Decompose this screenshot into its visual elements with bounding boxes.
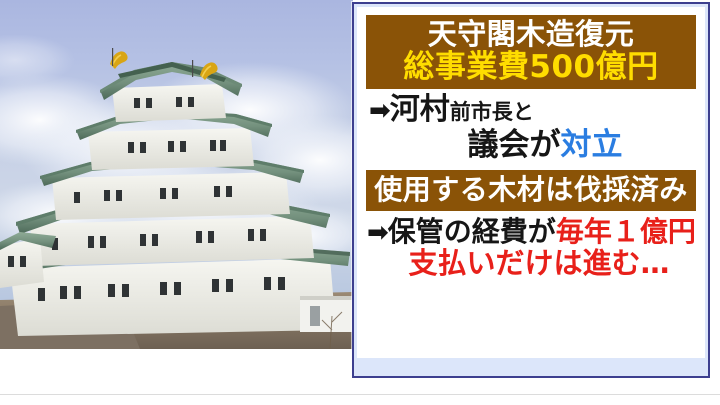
page-bottom-rule bbox=[0, 394, 720, 395]
castle-photo-artwork bbox=[0, 0, 353, 349]
point1-line1-main: 河村 bbox=[390, 92, 450, 127]
point-1: ➡河村前市長と 議会が対立 bbox=[357, 95, 705, 161]
point2-line1-main: 保管の経費が bbox=[388, 215, 556, 248]
banner-headline-1: 天守閣木造復元 総事業費500億円 bbox=[366, 15, 696, 89]
arrow-right-icon: ➡ bbox=[369, 96, 390, 126]
banner2-line1: 使用する木材は伐採済み bbox=[374, 175, 688, 204]
info-panel-inner: 天守閣木造復元 総事業費500億円 ➡河村前市長と 議会が対立 使用する木材は伐… bbox=[357, 7, 705, 358]
point2-line1: ➡保管の経費が毎年１億円 bbox=[365, 218, 697, 247]
point2-line2: 支払いだけは進む… bbox=[365, 249, 697, 279]
point1-line2-main: 議会が bbox=[468, 127, 561, 163]
point1-line2: 議会が対立 bbox=[365, 130, 697, 162]
point1-line1: ➡河村前市長と bbox=[365, 95, 697, 126]
point1-line1-small: 前市長と bbox=[450, 100, 534, 124]
point-2: ➡保管の経費が毎年１億円 支払いだけは進む… bbox=[357, 218, 705, 279]
info-panel: 天守閣木造復元 総事業費500億円 ➡河村前市長と 議会が対立 使用する木材は伐… bbox=[352, 2, 710, 378]
point2-line1-accent: 毎年１億円 bbox=[556, 215, 696, 248]
banner1-line2-cost: 総事業費500億円 bbox=[403, 51, 658, 84]
screenshot-stage: 天守閣木造復元 総事業費500億円 ➡河村前市長と 議会が対立 使用する木材は伐… bbox=[0, 0, 720, 405]
point1-line2-accent: 対立 bbox=[561, 127, 623, 163]
banner1-line1: 天守閣木造復元 bbox=[428, 19, 635, 49]
arrow-right-icon-2: ➡ bbox=[367, 218, 388, 248]
castle-photo bbox=[0, 0, 353, 349]
banner-headline-2: 使用する木材は伐採済み bbox=[366, 170, 696, 210]
